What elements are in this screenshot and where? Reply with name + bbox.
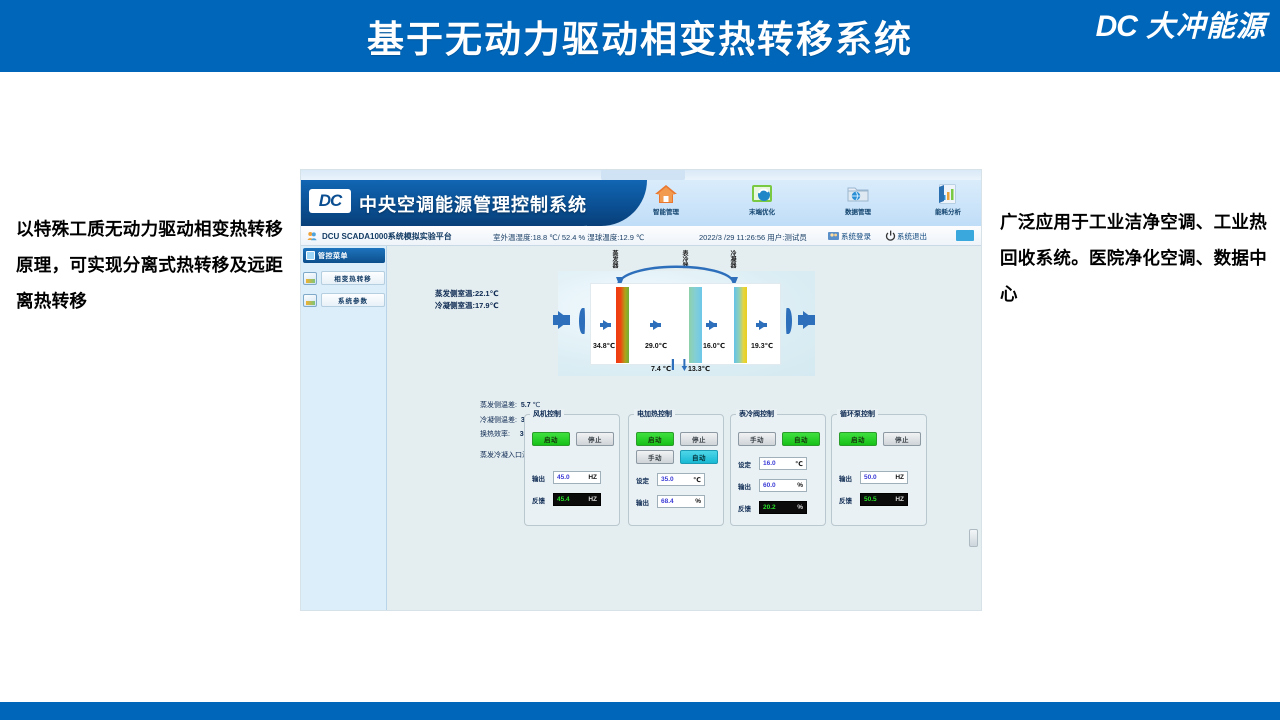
login-icon [828, 230, 839, 241]
air-temp-2: 29.0℃ [645, 342, 667, 350]
field-value: 50.5 [864, 496, 877, 503]
valve-output-field[interactable]: 60.0 % [759, 479, 807, 492]
toolbar-item-energy-analysis[interactable]: 能耗分析 [913, 183, 981, 225]
scrollbar-thumb[interactable] [969, 529, 978, 547]
field-value: 20.2 [763, 504, 776, 511]
banner-logo-icon: DC [309, 189, 351, 213]
heater-setpoint-field[interactable]: 35.0 ℃ [657, 473, 705, 486]
heater-stop-button[interactable]: 停止 [680, 432, 718, 446]
cond-room-temp: 冷凝侧室温:17.9℃ [435, 300, 499, 312]
sidebar-item-phase-change[interactable]: 相变热转移 [303, 269, 385, 287]
group-title: 循环泵控制 [837, 409, 878, 419]
field-value: 16.0 [763, 460, 776, 467]
down-arrow-icon [670, 359, 676, 373]
status-chip [956, 230, 974, 241]
heater-setpoint-row: 设定 35.0 ℃ [636, 473, 705, 486]
down-arrow-icon [681, 359, 689, 373]
air-temp-4: 19.3℃ [751, 342, 773, 350]
airflow-arrow [603, 320, 611, 330]
house-icon [654, 183, 678, 205]
valve-auto-button[interactable]: 自动 [782, 432, 820, 446]
app-toolbar: 智能管理 末端优化 [631, 180, 981, 226]
refresh-screen-icon [750, 183, 774, 205]
valve-setpoint-row: 设定 16.0 ℃ [738, 457, 807, 470]
field-value: 50.0 [864, 474, 877, 481]
field-value: 45.4 [557, 496, 570, 503]
control-group-circulation-pump: 循环泵控制 启动 停止 输出 50.0 HZ 反馈 50.5 HZ [831, 414, 927, 526]
pump-feedback-field: 50.5 HZ [860, 493, 908, 506]
outlet-cap-icon [786, 308, 792, 334]
condenser-coil [734, 287, 747, 363]
field-unit: HZ [588, 474, 597, 481]
stat-unit: ℃ [533, 402, 541, 409]
pump-stop-button[interactable]: 停止 [883, 432, 921, 446]
airflow-arrow [759, 320, 767, 330]
airflow-arrow [709, 320, 717, 330]
valve-manual-button[interactable]: 手动 [738, 432, 776, 446]
valve-setpoint-field[interactable]: 16.0 ℃ [759, 457, 807, 470]
chart-book-icon [936, 183, 960, 205]
fan-output-field[interactable]: 45.0 HZ [553, 471, 601, 484]
page-title: 基于无动力驱动相变热转移系统 [0, 0, 1280, 72]
pump-feedback-row: 反馈 50.5 HZ [839, 493, 908, 506]
slide-root: 基于无动力驱动相变热转移系统 DC 大冲能源 以特殊工质无动力驱动相变热转移原理… [0, 0, 1280, 720]
logo-name: 大冲能源 [1146, 13, 1266, 42]
field-label: 设定 [636, 475, 654, 485]
field-unit: % [797, 504, 803, 511]
outdoor-conditions: 室外温湿度:18.8 ℃/ 52.4 % 湿球温度:12.9 ℃ [493, 232, 644, 243]
outlet-air-arrow [803, 311, 815, 329]
valve-feedback-field: 20.2 % [759, 501, 807, 514]
sidebar-header-label: 管控菜单 [318, 251, 348, 261]
fan-stop-button[interactable]: 停止 [576, 432, 614, 446]
group-title: 电加热控制 [634, 409, 675, 419]
fan-start-button[interactable]: 启动 [532, 432, 570, 446]
stat-label: 冷凝侧温差: [480, 417, 517, 424]
power-icon [885, 230, 896, 241]
field-unit: % [797, 482, 803, 489]
air-temp-1: 34.8℃ [593, 342, 615, 350]
heater-start-button[interactable]: 启动 [636, 432, 674, 446]
water-temp-1: 7.4 ℃ [651, 365, 671, 373]
scada-screenshot: DC 中央空调能源管理控制系统 智能管理 [301, 170, 981, 610]
field-value: 68.4 [661, 498, 674, 505]
control-group-cooling-valve: 表冷阀控制 手动 自动 设定 16.0 ℃ 输出 60.0 % [730, 414, 826, 526]
field-label: 反馈 [839, 495, 857, 505]
toolbar-item-smart-management[interactable]: 智能管理 [631, 183, 701, 225]
fan-feedback-field: 45.4 HZ [553, 493, 601, 506]
browser-tab-remnant [601, 170, 685, 180]
airflow-arrow [653, 320, 661, 330]
field-label: 输出 [738, 481, 756, 491]
caption-right: 广泛应用于工业洁净空调、工业热回收系统。医院净化空调、数据中心 [1000, 205, 1278, 313]
banner-title: 中央空调能源管理控制系统 [359, 191, 587, 217]
field-label: 输出 [636, 497, 654, 507]
menu-icon [306, 251, 315, 260]
phase-change-diagram: 蒸发器 表冷器 冷凝器 [558, 271, 815, 376]
stat-value: 5.7 [521, 402, 531, 409]
sidebar-item-label: 相变热转移 [321, 271, 385, 285]
control-group-electric-heater: 电加热控制 启动 停止 手动 自动 设定 35.0 ℃ 输出 68.4 % [628, 414, 724, 526]
system-logout-link[interactable]: 系统退出 [897, 231, 927, 242]
toolbar-label: 末端优化 [749, 206, 775, 216]
toolbar-label: 智能管理 [653, 206, 679, 216]
sidebar-item-system-params[interactable]: 系统参数 [303, 291, 385, 309]
field-label: 设定 [738, 459, 756, 469]
toolbar-item-terminal-optimization[interactable]: 末端优化 [727, 183, 797, 225]
field-label: 输出 [839, 473, 857, 483]
field-unit: % [695, 498, 701, 505]
platform-name: DCU SCADA1000系统模拟实验平台 [322, 231, 452, 242]
evap-room-temp: 蒸发侧室温:22.1℃ [435, 288, 499, 300]
module-icon [303, 294, 317, 307]
app-sidebar: 管控菜单 相变热转移 系统参数 [301, 246, 387, 610]
brand-logo: DC 大冲能源 [1096, 12, 1266, 42]
surface-cooler-coil [689, 287, 702, 363]
inlet-cap-icon [579, 308, 585, 334]
heater-output-row: 输出 68.4 % [636, 495, 705, 508]
field-value: 35.0 [661, 476, 674, 483]
field-unit: ℃ [795, 460, 803, 468]
water-temp-2: 13.3℃ [688, 365, 710, 373]
toolbar-item-data-management[interactable]: 数据管理 [823, 183, 893, 225]
fan-feedback-row: 反馈 45.4 HZ [532, 493, 601, 506]
sidebar-header: 管控菜单 [303, 248, 385, 263]
module-icon [303, 272, 317, 285]
users-icon [307, 231, 317, 241]
sidebar-item-label: 系统参数 [321, 293, 385, 307]
group-title: 表冷阀控制 [736, 409, 777, 419]
field-unit: HZ [895, 496, 904, 503]
valve-feedback-row: 反馈 20.2 % [738, 501, 807, 514]
caption-left: 以特殊工质无动力驱动相变热转移原理，可实现分离式热转移及远距离热转移 [16, 212, 288, 320]
field-label: 反馈 [532, 495, 550, 505]
footer-bar [0, 702, 1280, 720]
field-value: 60.0 [763, 482, 776, 489]
evaporator-coil [616, 287, 629, 363]
field-label: 反馈 [738, 503, 756, 513]
field-unit: HZ [895, 474, 904, 481]
datetime-user: 2022/3 /29 11:26:56 用户:测试员 [699, 232, 807, 243]
control-group-fan: 风机控制 启动 停止 输出 45.0 HZ 反馈 45.4 HZ [524, 414, 620, 526]
pump-start-button[interactable]: 启动 [839, 432, 877, 446]
field-value: 45.0 [557, 474, 570, 481]
logo-abbr: DC [1096, 12, 1137, 42]
air-temp-3: 16.0℃ [703, 342, 725, 350]
group-title: 风机控制 [530, 409, 564, 419]
valve-output-row: 输出 60.0 % [738, 479, 807, 492]
app-banner: DC 中央空调能源管理控制系统 智能管理 [301, 180, 981, 226]
app-statusbar: DCU SCADA1000系统模拟实验平台 室外温湿度:18.8 ℃/ 52.4… [301, 226, 981, 246]
field-unit: ℃ [693, 476, 701, 484]
heater-output-field[interactable]: 68.4 % [657, 495, 705, 508]
heater-manual-button[interactable]: 手动 [636, 450, 674, 464]
field-unit: HZ [588, 496, 597, 503]
fan-output-row: 输出 45.0 HZ [532, 471, 601, 484]
stat-label: 换热效率: [480, 431, 510, 438]
coil-chamber: 34.8℃ 29.0℃ 16.0℃ 19.3℃ [590, 283, 781, 365]
app-canvas: 蒸发侧室温:22.1℃ 冷凝侧室温:17.9℃ 蒸发器 表冷器 冷凝器 [387, 246, 981, 610]
stat-label: 蒸发侧温差: [480, 402, 517, 409]
room-temperature-readout: 蒸发侧室温:22.1℃ 冷凝侧室温:17.9℃ [435, 288, 499, 313]
toolbar-label: 能耗分析 [935, 206, 961, 216]
inlet-air-arrow [558, 311, 570, 329]
folder-globe-icon [846, 183, 870, 205]
toolbar-label: 数据管理 [845, 206, 871, 216]
pump-output-row: 输出 50.0 HZ [839, 471, 908, 484]
heater-auto-button[interactable]: 自动 [680, 450, 718, 464]
system-login-link[interactable]: 系统登录 [841, 231, 871, 242]
pump-output-field[interactable]: 50.0 HZ [860, 471, 908, 484]
field-label: 输出 [532, 473, 550, 483]
